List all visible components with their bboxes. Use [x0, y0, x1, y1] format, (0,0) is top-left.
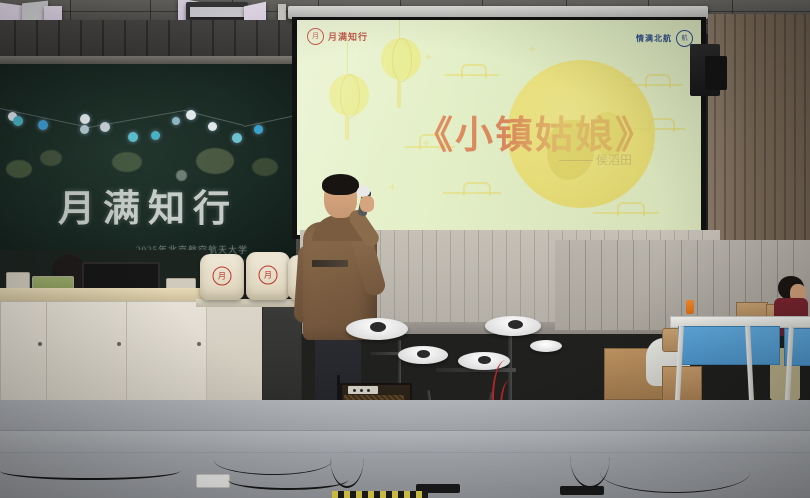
chalk-decor-3	[112, 152, 142, 172]
slide-sparkle: ✛	[425, 54, 432, 62]
string-light-bulb	[100, 122, 110, 132]
slide-lantern-1	[325, 38, 371, 148]
floor-cable	[0, 462, 180, 480]
floor-cable-connector	[560, 486, 604, 495]
beverage-can	[686, 300, 694, 314]
logo-cushion: 月	[246, 252, 290, 300]
amp-cable	[330, 426, 364, 488]
table-modesty-panel	[678, 326, 780, 365]
slide-author: 侯滔田	[596, 151, 632, 168]
slide-cloud-motif	[445, 62, 499, 82]
slide-sparkle: ✛	[389, 184, 396, 192]
chalk-decor-4	[196, 148, 234, 174]
slide-brand-left: 月 月满知行	[307, 28, 368, 45]
slide-brand-left-label: 月满知行	[328, 30, 368, 43]
stage-light-center-panel	[190, 7, 244, 17]
projector-slide: ✛ ✛ ✛ ✛ ✛ ✛ 《小镇姑娘》 侯滔田 月 月满知行 情满北航 航	[297, 20, 701, 235]
seal-icon: 月	[307, 28, 324, 45]
cymbal-pad-center	[508, 320, 523, 329]
amplifier-knob[interactable]	[360, 389, 363, 392]
cymbal-pad-center	[417, 350, 430, 358]
string-light-bulb	[208, 122, 217, 131]
amplifier-knob[interactable]	[367, 389, 370, 392]
hoodie-chest-print	[312, 260, 348, 267]
slide-sparkle: ✛	[529, 46, 536, 54]
slide-brand-right-label: 情满北航	[636, 33, 672, 44]
cardboard-box-floor	[662, 366, 702, 404]
slide-brand-right: 情满北航 航	[636, 30, 693, 47]
string-light-bulb	[151, 131, 160, 140]
cajon-mic-cable	[570, 424, 610, 488]
string-light-bulb	[232, 133, 242, 143]
cymbal-pad-center	[478, 356, 491, 364]
logo-cushion: 月	[200, 254, 244, 300]
blackboard-chalk-title: 月满知行	[58, 178, 238, 232]
chalk-decor-1	[6, 160, 32, 178]
chalk-decor-5	[252, 158, 278, 176]
slide-cloud-motif	[627, 72, 683, 90]
cushion-logo-icon: 月	[213, 267, 232, 286]
performer-hand	[360, 196, 374, 212]
string-light-bulb	[80, 114, 90, 124]
floor-upper	[0, 400, 810, 432]
cushion-logo-icon: 月	[259, 266, 278, 285]
wall-speaker-secondary	[705, 56, 727, 90]
slide-cloud-motif	[443, 180, 501, 198]
string-light-bulb	[254, 125, 263, 134]
floor-cable-thin	[214, 446, 332, 475]
string-light-bulb	[172, 117, 180, 125]
floor-cable-thin	[600, 452, 750, 493]
upper-wall-panel	[0, 20, 300, 58]
performer-hair	[322, 174, 359, 195]
string-light-bulb	[128, 132, 138, 142]
cymbal-pad-center	[370, 322, 386, 332]
floor-seam	[0, 430, 810, 431]
chalk-decor-2	[40, 150, 62, 166]
amplifier-knob[interactable]	[353, 389, 356, 392]
string-light-bulb	[80, 125, 89, 134]
slide-author-rule	[559, 160, 593, 161]
cymbal-pad-small	[530, 340, 562, 352]
string-light-bulb	[13, 116, 23, 126]
string-light-bulb	[186, 110, 196, 120]
floor-warning-tape	[332, 491, 428, 498]
slide-cloud-motif	[593, 200, 659, 218]
slide-sparkle: ✛	[627, 76, 634, 84]
power-strip[interactable]	[196, 474, 230, 488]
classroom-performance-scene: 月满知行 2025年北京航空航天大学	[0, 0, 810, 498]
string-light-bulb	[38, 120, 48, 130]
